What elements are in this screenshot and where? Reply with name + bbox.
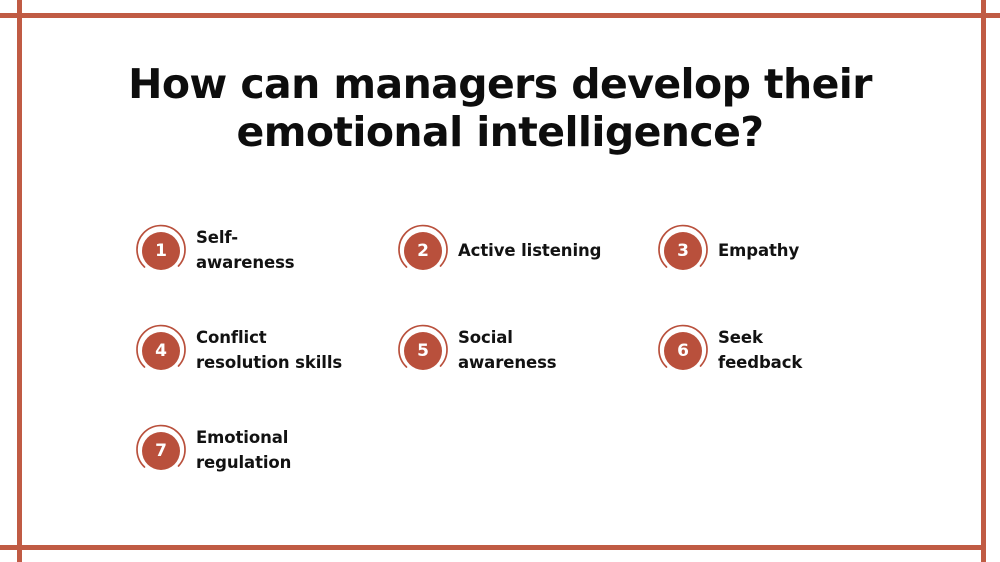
title-line-2: emotional intelligence?: [0, 108, 1000, 156]
badge-disc: 1: [142, 232, 180, 270]
list-item-label: Active listening: [458, 238, 601, 263]
list-item-label: Conflict resolution skills: [196, 325, 342, 375]
list-item-label: Social awareness: [458, 325, 557, 375]
list-item-label: Emotional regulation: [196, 425, 291, 475]
list-item-label: Empathy: [718, 238, 799, 263]
badge-disc: 7: [142, 432, 180, 470]
list-item[interactable]: 5Social awareness: [396, 312, 557, 388]
badge-number: 5: [417, 343, 429, 360]
slide-canvas: How can managers develop their emotional…: [0, 0, 1000, 562]
numbered-badge: 4: [134, 323, 188, 377]
numbered-badge: 1: [134, 223, 188, 277]
numbered-badge: 3: [656, 223, 710, 277]
list-item[interactable]: 7Emotional regulation: [134, 412, 291, 488]
badge-disc: 4: [142, 332, 180, 370]
badge-disc: 2: [404, 232, 442, 270]
numbered-badge: 2: [396, 223, 450, 277]
numbered-badge: 7: [134, 423, 188, 477]
badge-number: 6: [677, 343, 689, 360]
list-item[interactable]: 1Self- awareness: [134, 212, 295, 288]
list-item[interactable]: 2Active listening: [396, 212, 601, 288]
badge-disc: 6: [664, 332, 702, 370]
numbered-badge: 5: [396, 323, 450, 377]
list-item[interactable]: 4Conflict resolution skills: [134, 312, 342, 388]
slide-title: How can managers develop their emotional…: [0, 60, 1000, 156]
numbered-badge: 6: [656, 323, 710, 377]
numbered-item-grid: 1Self- awareness2Active listening3Empath…: [0, 212, 1000, 512]
badge-disc: 3: [664, 232, 702, 270]
badge-number: 1: [155, 243, 167, 260]
list-item-label: Self- awareness: [196, 225, 295, 275]
badge-number: 4: [155, 343, 167, 360]
badge-number: 2: [417, 243, 429, 260]
title-line-1: How can managers develop their: [0, 60, 1000, 108]
list-item[interactable]: 6Seek feedback: [656, 312, 802, 388]
frame-line-top: [0, 13, 1000, 18]
list-item-label: Seek feedback: [718, 325, 802, 375]
frame-line-bottom: [0, 545, 983, 550]
list-item[interactable]: 3Empathy: [656, 212, 799, 288]
badge-disc: 5: [404, 332, 442, 370]
badge-number: 7: [155, 443, 167, 460]
badge-number: 3: [677, 243, 689, 260]
